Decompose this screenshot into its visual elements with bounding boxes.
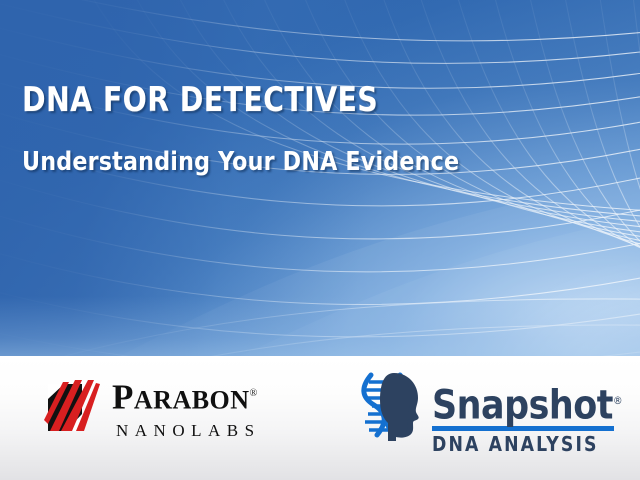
parabon-name: PARABON®	[112, 376, 261, 418]
wireframe-mesh-graphic	[0, 0, 640, 356]
parabon-name-rest: ARABON	[134, 386, 250, 415]
footer-bar: PARABON® NANOLABS	[0, 356, 640, 480]
hero-background: DNA FOR DETECTIVES Understanding Your DN…	[0, 0, 640, 356]
logo-row: PARABON® NANOLABS	[0, 356, 640, 452]
presentation-slide: DNA FOR DETECTIVES Understanding Your DN…	[0, 0, 640, 480]
parabon-name-cap: P	[112, 378, 134, 417]
title-block: DNA FOR DETECTIVES Understanding Your DN…	[22, 80, 482, 177]
parabon-wordmark: PARABON® NANOLABS	[112, 373, 261, 440]
registered-mark-icon: ®	[250, 388, 258, 399]
registered-mark-icon: ®	[613, 394, 623, 407]
parabon-mark-icon	[42, 374, 104, 437]
page-title: DNA FOR DETECTIVES	[22, 80, 450, 120]
snapshot-name-text: Snapshot	[432, 382, 613, 428]
snapshot-subtitle: DNA ANALYSIS	[432, 434, 621, 455]
dna-helix-face-icon	[358, 369, 430, 441]
parabon-nanolabs-logo: PARABON® NANOLABS	[42, 373, 261, 440]
snapshot-dna-analysis-logo: Snapshot® DNA ANALYSIS	[358, 369, 628, 455]
page-subtitle: Understanding Your DNA Evidence	[22, 120, 459, 177]
snapshot-name: Snapshot®	[432, 381, 623, 425]
snapshot-wordmark: Snapshot® DNA ANALYSIS	[432, 369, 628, 455]
parabon-subtitle: NANOLABS	[112, 422, 261, 440]
